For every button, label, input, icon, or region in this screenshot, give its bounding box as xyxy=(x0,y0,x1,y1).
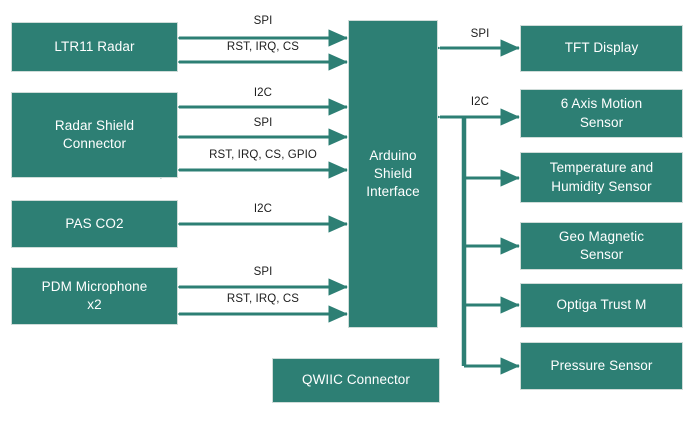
block-pressure-sensor[interactable]: Pressure Sensor xyxy=(520,342,683,390)
block-arduino-shield-interface-label-line2: Shield xyxy=(374,165,412,183)
wire-label-tft-spi: SPI xyxy=(440,29,520,41)
block-qwiic-connector-label: QWIIC Connector xyxy=(302,371,410,389)
block-diagram-canvas: LTR11 Radar Radar Shield Connector PAS C… xyxy=(0,0,700,421)
block-six-axis-motion-sensor-label-line1: 6 Axis Motion xyxy=(561,95,643,113)
block-geo-magnetic-sensor-label-line1: Geo Magnetic xyxy=(559,228,644,246)
block-pas-co2-label: PAS CO2 xyxy=(65,215,123,233)
block-optiga-trust-m[interactable]: Optiga Trust M xyxy=(520,283,683,328)
block-ltr11-radar[interactable]: LTR11 Radar xyxy=(11,22,178,72)
block-tft-display[interactable]: TFT Display xyxy=(520,25,683,72)
wire-label-pdm-rst-irq-cs: RST, IRQ, CS xyxy=(179,294,347,306)
wire-label-radar-shield-rst-irq-cs-gpio: RST, IRQ, CS, GPIO xyxy=(179,150,347,162)
wire-label-pdm-spi: SPI xyxy=(179,267,347,279)
block-temperature-humidity-sensor[interactable]: Temperature and Humidity Sensor xyxy=(520,152,683,203)
wire-label-ltr11-spi: SPI xyxy=(179,16,347,28)
block-qwiic-connector[interactable]: QWIIC Connector xyxy=(272,358,440,403)
block-radar-shield-connector-label-line2: Connector xyxy=(63,135,126,153)
wire-label-ltr11-rst-irq-cs: RST, IRQ, CS xyxy=(179,42,347,54)
block-arduino-shield-interface[interactable]: Arduino Shield Interface xyxy=(348,20,438,328)
block-tft-display-label: TFT Display xyxy=(565,39,639,57)
block-pdm-microphone-label-line1: PDM Microphone xyxy=(42,278,148,296)
block-temperature-humidity-sensor-label-line2: Humidity Sensor xyxy=(551,178,652,196)
wire-label-pas-co2-i2c: I2C xyxy=(179,204,347,216)
wire-label-i2c-bus: I2C xyxy=(440,97,520,109)
block-arduino-shield-interface-label-line3: Interface xyxy=(366,183,419,201)
block-geo-magnetic-sensor-label-line2: Sensor xyxy=(580,246,623,264)
block-six-axis-motion-sensor-label-line2: Sensor xyxy=(580,114,623,132)
block-arduino-shield-interface-label-line1: Arduino xyxy=(369,147,416,165)
block-geo-magnetic-sensor[interactable]: Geo Magnetic Sensor xyxy=(520,222,683,270)
block-radar-shield-connector-label-line1: Radar Shield xyxy=(55,117,134,135)
block-six-axis-motion-sensor[interactable]: 6 Axis Motion Sensor xyxy=(520,89,683,138)
block-optiga-trust-m-label: Optiga Trust M xyxy=(557,296,647,314)
wire-label-radar-shield-spi: SPI xyxy=(179,118,347,130)
block-pdm-microphone-label-line2: x2 xyxy=(87,296,101,314)
block-pressure-sensor-label: Pressure Sensor xyxy=(550,357,652,375)
block-temperature-humidity-sensor-label-line1: Temperature and xyxy=(550,159,654,177)
block-pas-co2[interactable]: PAS CO2 xyxy=(11,200,178,248)
block-pdm-microphone[interactable]: PDM Microphone x2 xyxy=(11,267,178,325)
wire-label-radar-shield-i2c: I2C xyxy=(179,88,347,100)
block-ltr11-radar-label: LTR11 Radar xyxy=(54,38,134,56)
block-radar-shield-connector[interactable]: Radar Shield Connector xyxy=(11,92,178,178)
